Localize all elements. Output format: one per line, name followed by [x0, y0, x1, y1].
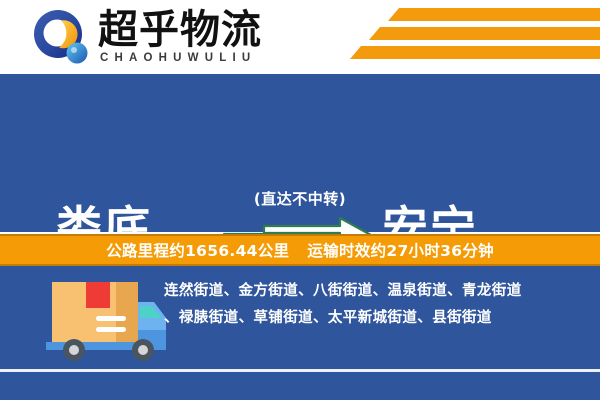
route-panel: 娄底 (直达不中转) 【往返运输】 安宁	[0, 74, 600, 232]
decorative-stripes	[350, 6, 600, 66]
route-info-bar: 公路里程约1656.44公里 运输时效约27小时36分钟	[0, 234, 600, 266]
stripe-2	[369, 27, 600, 40]
duration-text: 运输时效约27小时36分钟	[307, 239, 494, 261]
chaohu-q-logo-icon	[33, 9, 91, 67]
coverage-line-1: 连然街道、金方街道、八街街道、温泉街道、青龙街道	[164, 278, 592, 305]
delivery-truck-icon	[30, 272, 170, 368]
banner-header: 超乎物流 CHAOHUWULIU	[0, 0, 600, 74]
coverage-line-2: 、禄脿街道、草铺街道、太平新城街道、县街街道	[164, 305, 592, 332]
coverage-street-list: 连然街道、金方街道、八街街道、温泉街道、青龙街道 、禄脿街道、草铺街道、太平新城…	[164, 278, 592, 332]
direct-shipping-note: (直达不中转)	[0, 188, 600, 209]
coverage-panel: 连然街道、金方街道、八街街道、温泉街道、青龙街道 、禄脿街道、草铺街道、太平新城…	[0, 266, 600, 400]
stripe-1	[388, 8, 600, 21]
brand-name-cn: 超乎物流	[98, 8, 262, 52]
road-divider-line	[0, 369, 600, 372]
distance-text: 公路里程约1656.44公里	[106, 239, 289, 261]
stripe-3	[350, 46, 600, 59]
logistics-route-banner: 超乎物流 CHAOHUWULIU 娄底 (直达不中转) 【往返运输】 安宁 公路…	[0, 0, 600, 400]
brand-name-en: CHAOHUWULIU	[100, 52, 256, 64]
